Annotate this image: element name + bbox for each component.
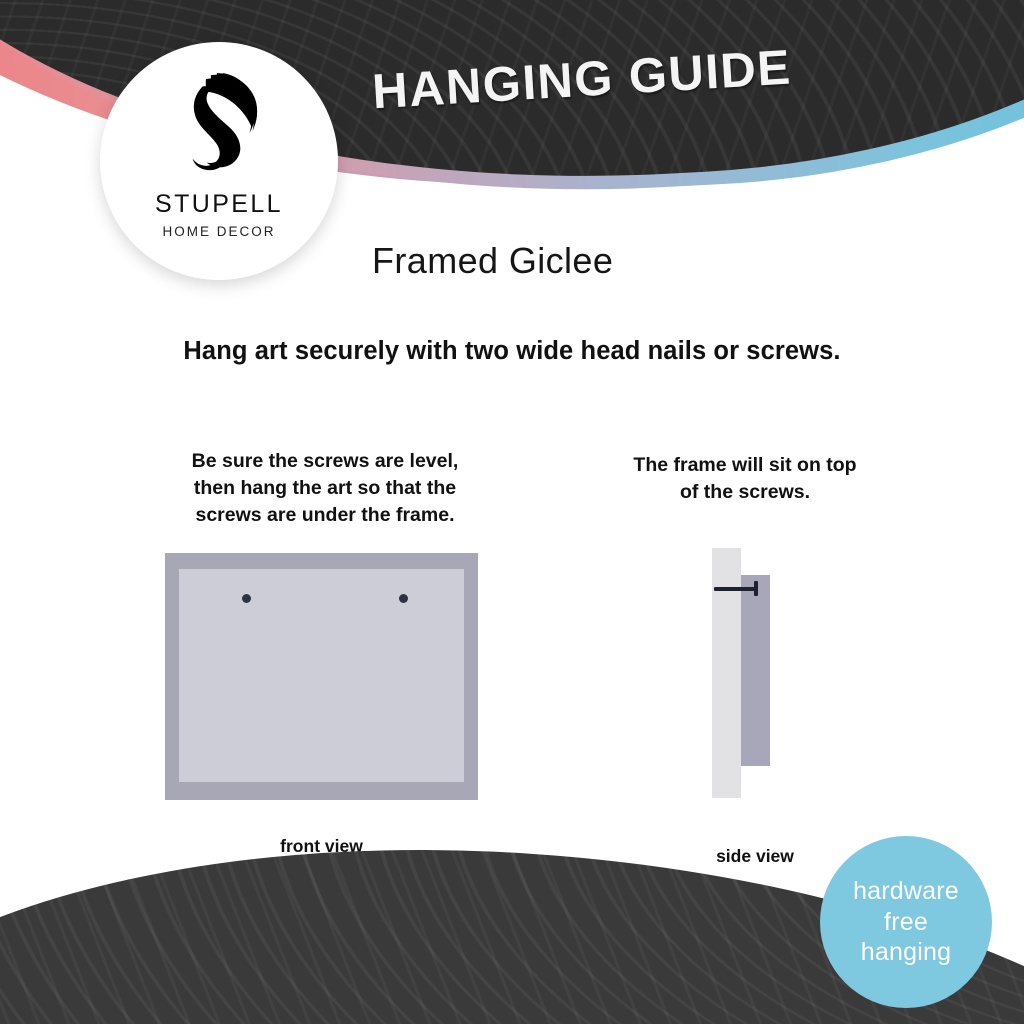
badge-line-2: free — [884, 907, 928, 938]
side-view-wall — [712, 548, 741, 798]
front-view-label: front view — [165, 836, 478, 857]
stupell-swoosh-logo-icon — [158, 64, 280, 186]
side-view-label: side view — [660, 846, 850, 867]
side-view-frame-diagram — [700, 540, 810, 810]
badge-line-1: hardware — [853, 876, 959, 907]
front-view-frame-diagram — [165, 553, 478, 800]
front-view-caption: Be sure the screws are level, then hang … — [160, 448, 490, 529]
front-view-frame-interior — [179, 569, 464, 782]
side-view-screw-shaft-icon — [714, 587, 756, 591]
main-instruction-text: Hang art securely with two wide head nai… — [0, 337, 1024, 366]
screw-dot-left-icon — [242, 594, 251, 603]
side-view-frame-profile — [741, 575, 770, 766]
hardware-free-hanging-badge: hardware free hanging — [820, 836, 992, 1008]
side-view-caption: The frame will sit on top of the screws. — [595, 452, 895, 506]
product-name: Framed Giclee — [372, 240, 613, 282]
page-title: HANGING GUIDE — [371, 40, 793, 121]
logo-brand-subtitle: HOME DECOR — [162, 224, 275, 239]
hanging-guide-page: STUPELL HOME DECOR HANGING GUIDE Framed … — [0, 0, 1024, 1024]
logo-brand-name: STUPELL — [155, 190, 283, 219]
screw-dot-right-icon — [399, 594, 408, 603]
brand-logo-badge: STUPELL HOME DECOR — [100, 42, 338, 280]
side-view-screw-head-icon — [754, 581, 758, 596]
badge-line-3: hanging — [861, 937, 951, 968]
